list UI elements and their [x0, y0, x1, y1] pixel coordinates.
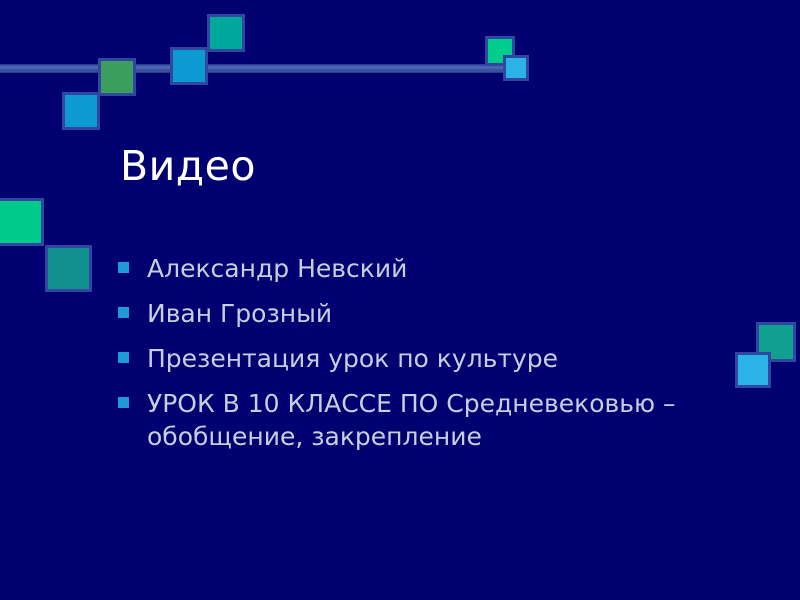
- bullet-square-icon: [118, 307, 129, 318]
- square-top-green: [98, 58, 136, 96]
- bullet-square-icon: [118, 262, 129, 273]
- square-top-right-blue: [503, 55, 529, 81]
- square-top-teal-high: [207, 14, 245, 52]
- bullet-square-icon: [118, 397, 129, 408]
- list-item: Александр Невский: [118, 252, 738, 285]
- list-item: Презентация урок по культуре: [118, 342, 738, 375]
- bullet-square-icon: [118, 352, 129, 363]
- list-item-label: Презентация урок по культуре: [147, 342, 738, 375]
- square-top-blue-low: [62, 92, 100, 130]
- square-top-blue-mid: [170, 47, 208, 85]
- page-title: Видео: [120, 143, 256, 190]
- list-item: УРОК В 10 КЛАССЕ ПО Средневековью – обоб…: [118, 387, 738, 453]
- presentation-slide: Видео Александр НевскийИван ГрозныйПрезе…: [0, 0, 800, 600]
- square-left-teal: [45, 245, 92, 292]
- square-right-blue: [735, 352, 771, 388]
- square-left-springgreen: [0, 198, 44, 246]
- list-item-label: УРОК В 10 КЛАССЕ ПО Средневековью – обоб…: [147, 387, 738, 453]
- list-item: Иван Грозный: [118, 297, 738, 330]
- bullet-list: Александр НевскийИван ГрозныйПрезентация…: [118, 252, 738, 465]
- list-item-label: Иван Грозный: [147, 297, 738, 330]
- list-item-label: Александр Невский: [147, 252, 738, 285]
- header-accent-line-highlight: [0, 66, 518, 69]
